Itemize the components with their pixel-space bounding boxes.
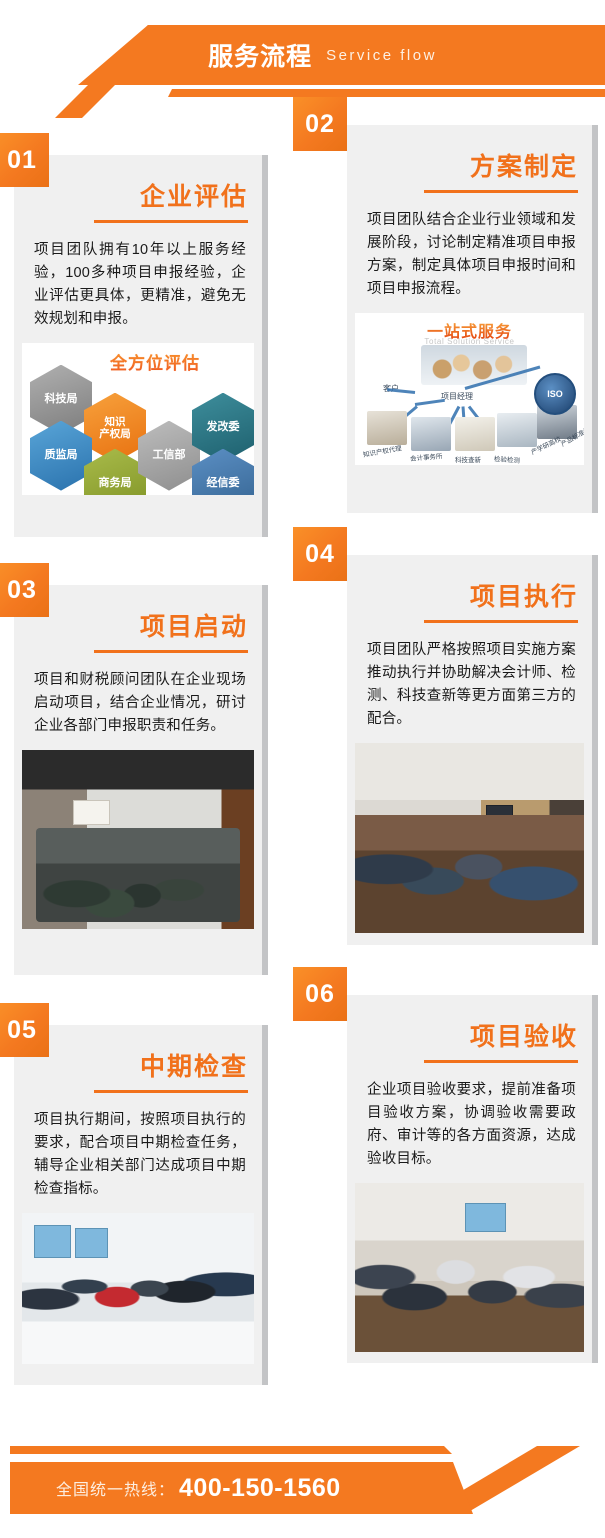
step-card-04[interactable]: 04 项目执行 项目团队严格按照项目实施方案推动执行并协助解决会计师、检测、科技… bbox=[347, 555, 592, 945]
step-media-service-diagram: 一站式服务 Total Solution Service 客户 项目经理 ISO bbox=[355, 313, 584, 465]
step-title: 项目验收 bbox=[347, 995, 592, 1053]
footer-top-stripe bbox=[10, 1446, 605, 1454]
laptop-screen bbox=[486, 805, 513, 828]
step-number-badge: 05 bbox=[0, 1003, 49, 1057]
step-description: 项目团队严格按照项目实施方案推动执行并协助解决会计师、检测、科技查新等更方面第三… bbox=[347, 623, 592, 743]
hexagon-chart-title: 全方位评估 bbox=[110, 349, 200, 374]
service-node-label-3: 科技查新 bbox=[455, 454, 481, 464]
service-node-label-4: 检验检测 bbox=[494, 453, 521, 465]
page-title: 服务流程 bbox=[208, 37, 312, 73]
photo-conference bbox=[355, 1183, 584, 1352]
service-certification-badge: ISO bbox=[534, 373, 576, 415]
step-description: 企业项目验收要求，提前准备项目验收方案，协调验收需要政府、审计等的各方面资源，达… bbox=[347, 1063, 592, 1183]
service-node-label-2: 会计事务所 bbox=[410, 450, 443, 463]
one-stop-service-diagram: 一站式服务 Total Solution Service 客户 项目经理 ISO bbox=[355, 313, 584, 465]
projection-screen bbox=[465, 1203, 506, 1232]
step-card-02[interactable]: 02 方案制定 项目团队结合企业行业领域和发展阶段，讨论制定精准项目申报方案，制… bbox=[347, 125, 592, 513]
step-media-hexagon-chart: 全方位评估 科技局 知识产权局 质监局 商务局 工信部 发改委 经信委 bbox=[22, 343, 254, 495]
hex-node-jingxin: 经信委 bbox=[192, 449, 254, 495]
service-hub-photo bbox=[421, 345, 527, 385]
step-media-photo-showroom bbox=[22, 1213, 254, 1364]
step-description: 项目团队结合企业行业领域和发展阶段，讨论制定精准项目申报方案，制定具体项目申报时… bbox=[347, 193, 592, 313]
step-description: 项目执行期间，按照项目执行的要求，配合项目中期检查任务，辅导企业相关部门达成项目… bbox=[14, 1093, 262, 1213]
step-title: 中期检查 bbox=[14, 1025, 262, 1083]
step-title: 方案制定 bbox=[347, 125, 592, 183]
service-node-photo-3 bbox=[455, 417, 495, 451]
hotline-label: 全国统一热线： bbox=[56, 1476, 175, 1500]
service-node-photo-2 bbox=[411, 417, 451, 451]
step-media-photo-conference bbox=[355, 1183, 584, 1352]
step-number-badge: 03 bbox=[0, 563, 49, 617]
step-title: 项目启动 bbox=[14, 585, 262, 643]
laptop-screen-2 bbox=[447, 860, 479, 889]
step-card-06[interactable]: 06 项目验收 企业项目验收要求，提前准备项目验收方案，协调验收需要政府、审计等… bbox=[347, 995, 592, 1363]
hex-node-gongxin: 工信部 bbox=[138, 421, 200, 491]
display-screen-1 bbox=[34, 1225, 71, 1258]
display-screen-2 bbox=[75, 1228, 107, 1258]
hex-node-zhijian: 质监局 bbox=[30, 421, 92, 491]
step-number-badge: 04 bbox=[293, 527, 347, 581]
page-subtitle: Service flow bbox=[326, 47, 437, 64]
photo-working-session bbox=[355, 743, 584, 933]
step-number-badge: 01 bbox=[0, 133, 49, 187]
service-label-manager: 项目经理 bbox=[441, 391, 473, 402]
step-number-badge: 06 bbox=[293, 967, 347, 1021]
service-node-photo-1 bbox=[367, 411, 407, 445]
service-arrow-2 bbox=[415, 398, 445, 405]
step-description: 项目团队拥有10年以上服务经验，100多种项目申报经验，企业评估更具体，更精准，… bbox=[14, 223, 262, 343]
photo-showroom-visit bbox=[22, 1213, 254, 1364]
step-media-photo-working-session bbox=[355, 743, 584, 933]
hotline-number[interactable]: 400-150-1560 bbox=[179, 1474, 341, 1503]
hexagon-chart: 全方位评估 科技局 知识产权局 质监局 商务局 工信部 发改委 经信委 bbox=[22, 343, 254, 495]
step-card-01[interactable]: 01 企业评估 项目团队拥有10年以上服务经验，100多种项目申报经验，企业评估… bbox=[14, 155, 262, 537]
step-card-05[interactable]: 05 中期检查 项目执行期间，按照项目执行的要求，配合项目中期检查任务，辅导企业… bbox=[14, 1025, 262, 1385]
service-node-photo-4 bbox=[497, 413, 537, 447]
hex-node-shangwu: 商务局 bbox=[84, 449, 146, 495]
step-media-photo-meeting-room bbox=[22, 750, 254, 929]
whiteboard bbox=[73, 800, 110, 825]
photo-meeting-room bbox=[22, 750, 254, 929]
footer-hotline-group: 全国统一热线： 400-150-1560 bbox=[56, 1462, 341, 1514]
step-description: 项目和财税顾问团队在企业现场启动项目，结合企业情况，研讨企业各部门申报职责和任务… bbox=[14, 653, 262, 750]
header-title-group: 服务流程 Service flow bbox=[0, 25, 605, 85]
step-title: 项目执行 bbox=[347, 555, 592, 613]
step-number-badge: 02 bbox=[293, 97, 347, 151]
step-title: 企业评估 bbox=[14, 155, 262, 213]
hex-node-label: 知识产权局 bbox=[99, 416, 131, 440]
page-footer: 全国统一热线： 400-150-1560 bbox=[0, 1402, 605, 1538]
service-flow-infographic: 服务流程 Service flow 01 企业评估 项目团队拥有10年以上服务经… bbox=[0, 0, 605, 1538]
step-card-03[interactable]: 03 项目启动 项目和财税顾问团队在企业现场启动项目，结合企业情况，研讨企业各部… bbox=[14, 585, 262, 975]
